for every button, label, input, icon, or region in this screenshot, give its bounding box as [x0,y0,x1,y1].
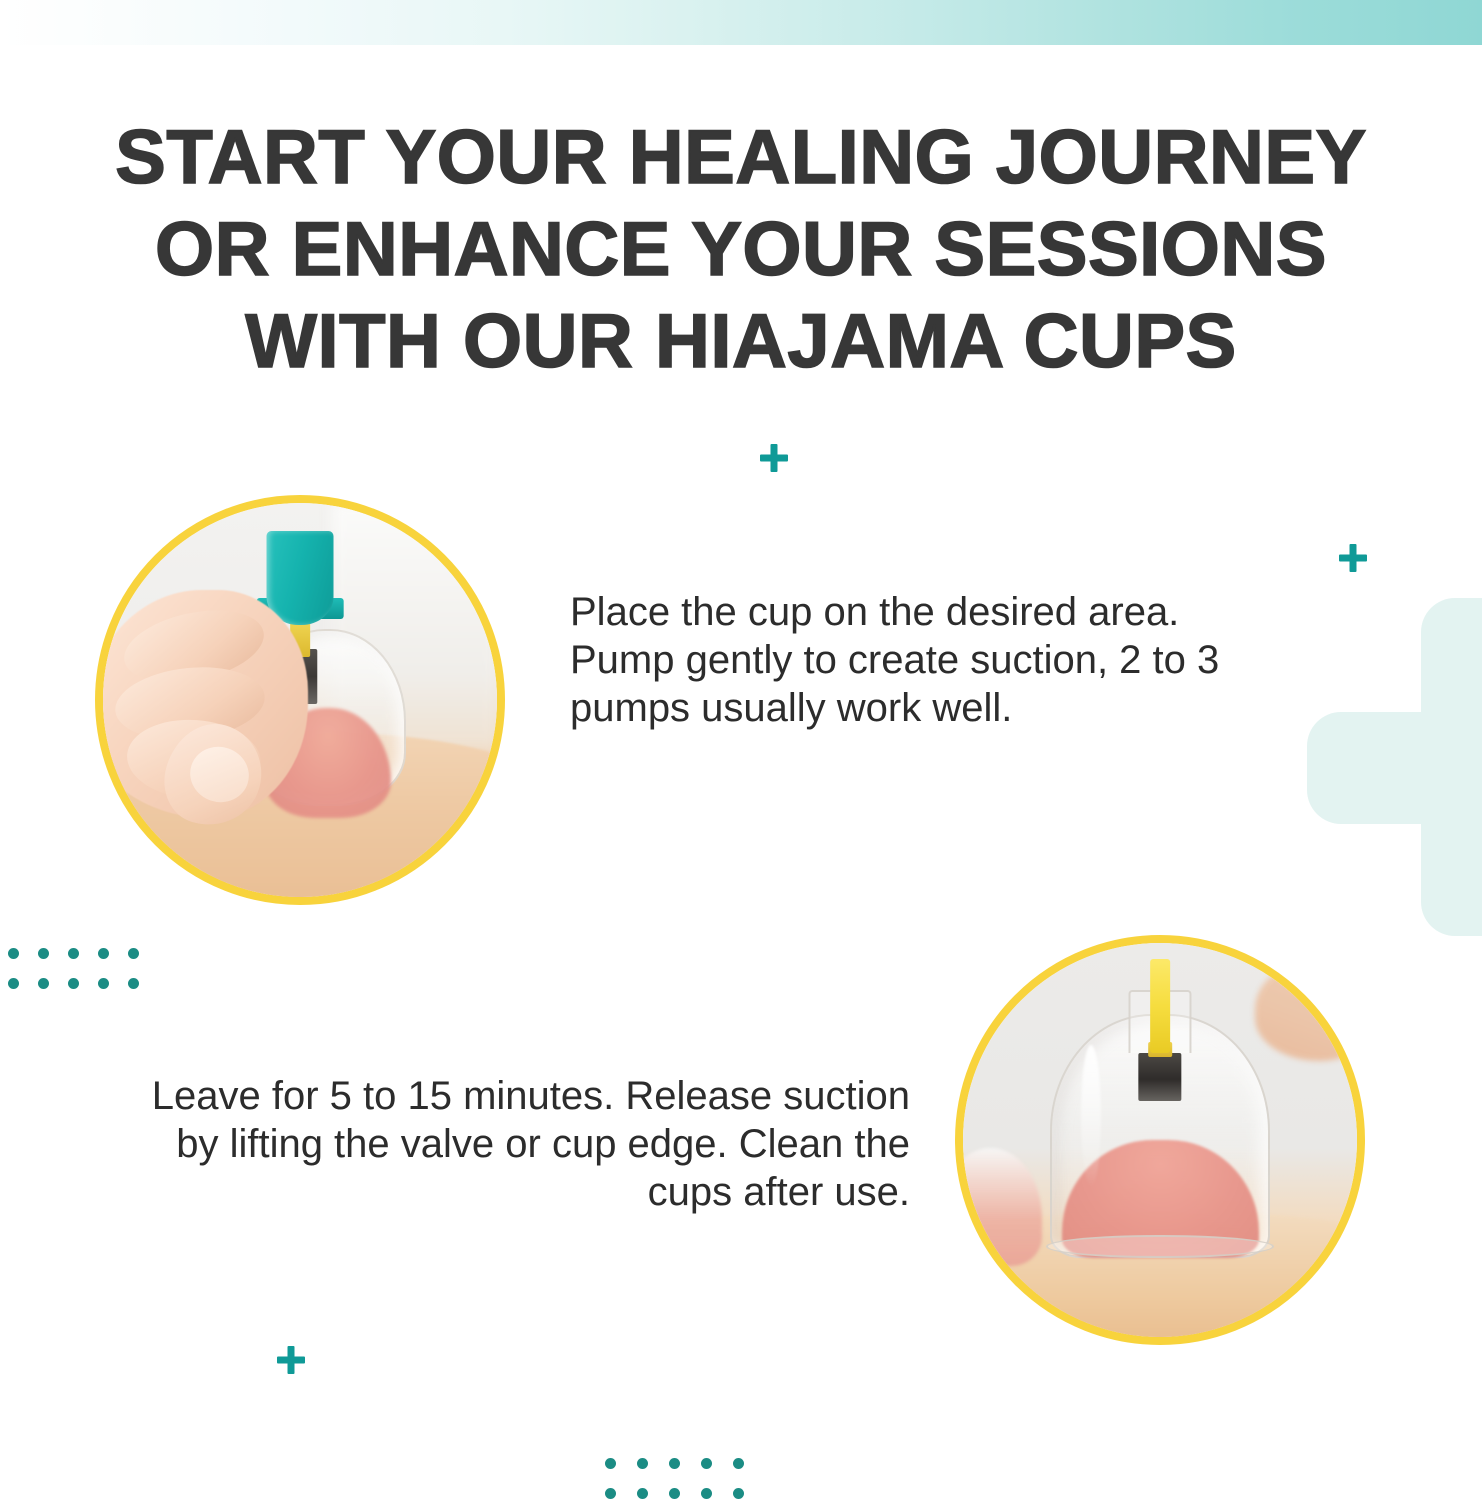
grid-dot [98,978,109,989]
grid-dot [98,948,109,959]
yellow-valve-stem [1150,959,1170,1054]
grid-dot [733,1458,744,1469]
grid-dot [733,1488,744,1499]
grid-dot [605,1458,616,1469]
top-gradient-band [0,0,1482,45]
grid-dot [605,1488,616,1499]
step-1-photo [95,495,505,905]
step-2-photo [955,935,1365,1345]
dot-grid-bottom [605,1458,765,1500]
cross-horizontal-bar [1307,712,1482,824]
plus-icon-right [1339,544,1367,572]
headline-line-2: OR ENHANCE YOUR SESSIONS [50,204,1432,296]
plus-icon-bottom-left [277,1346,305,1374]
headline-line-1: START YOUR HEALING JOURNEY [50,112,1432,204]
grid-dot [637,1458,648,1469]
plus-horizontal-stroke [760,455,788,462]
grid-dot [128,948,139,959]
grid-dot [38,948,49,959]
grid-dot [669,1458,680,1469]
grid-dot [637,1488,648,1499]
cup-valve-metal [1138,1053,1181,1100]
step-2-photo-content [963,943,1357,1337]
grid-dot [8,978,19,989]
grid-dot [701,1488,712,1499]
step-1-photo-content [103,503,497,897]
step-1-text: Place the cup on the desired area. Pump … [570,588,1280,732]
glass-highlight [1081,1045,1101,1187]
grid-dot [701,1458,712,1469]
step-2-text: Leave for 5 to 15 minutes. Release sucti… [105,1072,910,1216]
plus-horizontal-stroke [277,1357,305,1364]
plus-icon-center [760,444,788,472]
headline-line-3: WITH OUR HIAJAMA CUPS [50,296,1432,388]
plus-horizontal-stroke [1339,555,1367,562]
page-title: START YOUR HEALING JOURNEY OR ENHANCE YO… [50,112,1432,388]
grid-dot [68,948,79,959]
grid-dot [128,978,139,989]
cross-vertical-bar [1421,598,1482,936]
grid-dot [38,978,49,989]
infographic-page: START YOUR HEALING JOURNEY OR ENHANCE YO… [0,0,1482,1500]
teal-pump-head [267,531,334,626]
grid-dot [669,1488,680,1499]
cup-rim [1046,1235,1275,1259]
grid-dot [68,978,79,989]
dot-grid-left [8,948,158,1008]
grid-dot [8,948,19,959]
